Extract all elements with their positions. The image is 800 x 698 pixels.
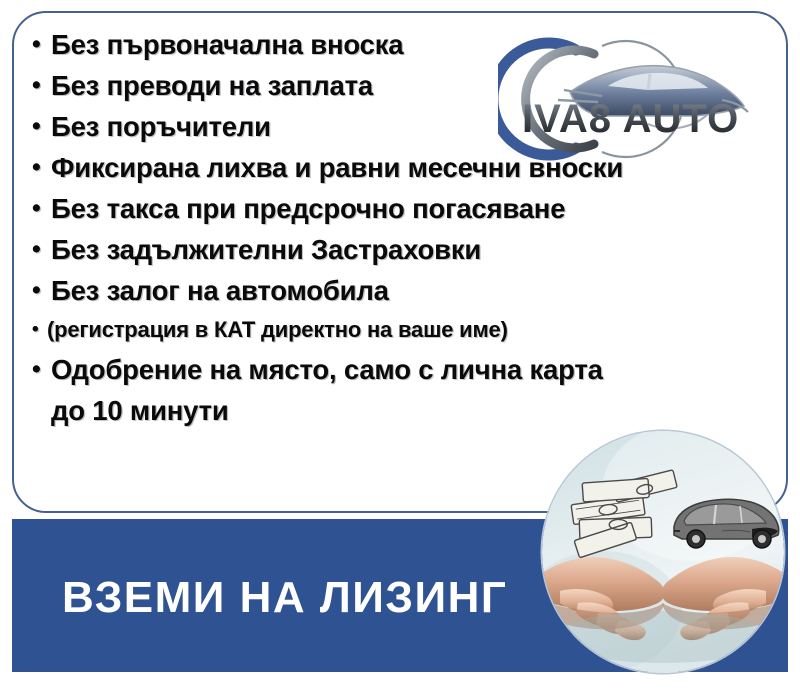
list-item: Одобрение на място, само с лична карта д… (30, 349, 775, 431)
brand-logo: IVA8 AUTO (498, 28, 756, 170)
cta-headline: ВЗЕМИ НА ЛИЗИНГ (62, 572, 507, 624)
hands-money-car-photo (542, 431, 784, 673)
list-item: Без залог на автомобила (30, 270, 775, 311)
logo-wordmark: IVA8 AUTO (522, 97, 739, 141)
list-item: Без задължителни Застраховки (30, 229, 775, 270)
list-item-note: (регистрация в КАТ директно на ваше име) (30, 311, 775, 349)
flyer-root: Без първоначална вноска Без преводи на з… (0, 0, 800, 698)
list-item: Без такса при предсрочно погасяване (30, 188, 775, 229)
